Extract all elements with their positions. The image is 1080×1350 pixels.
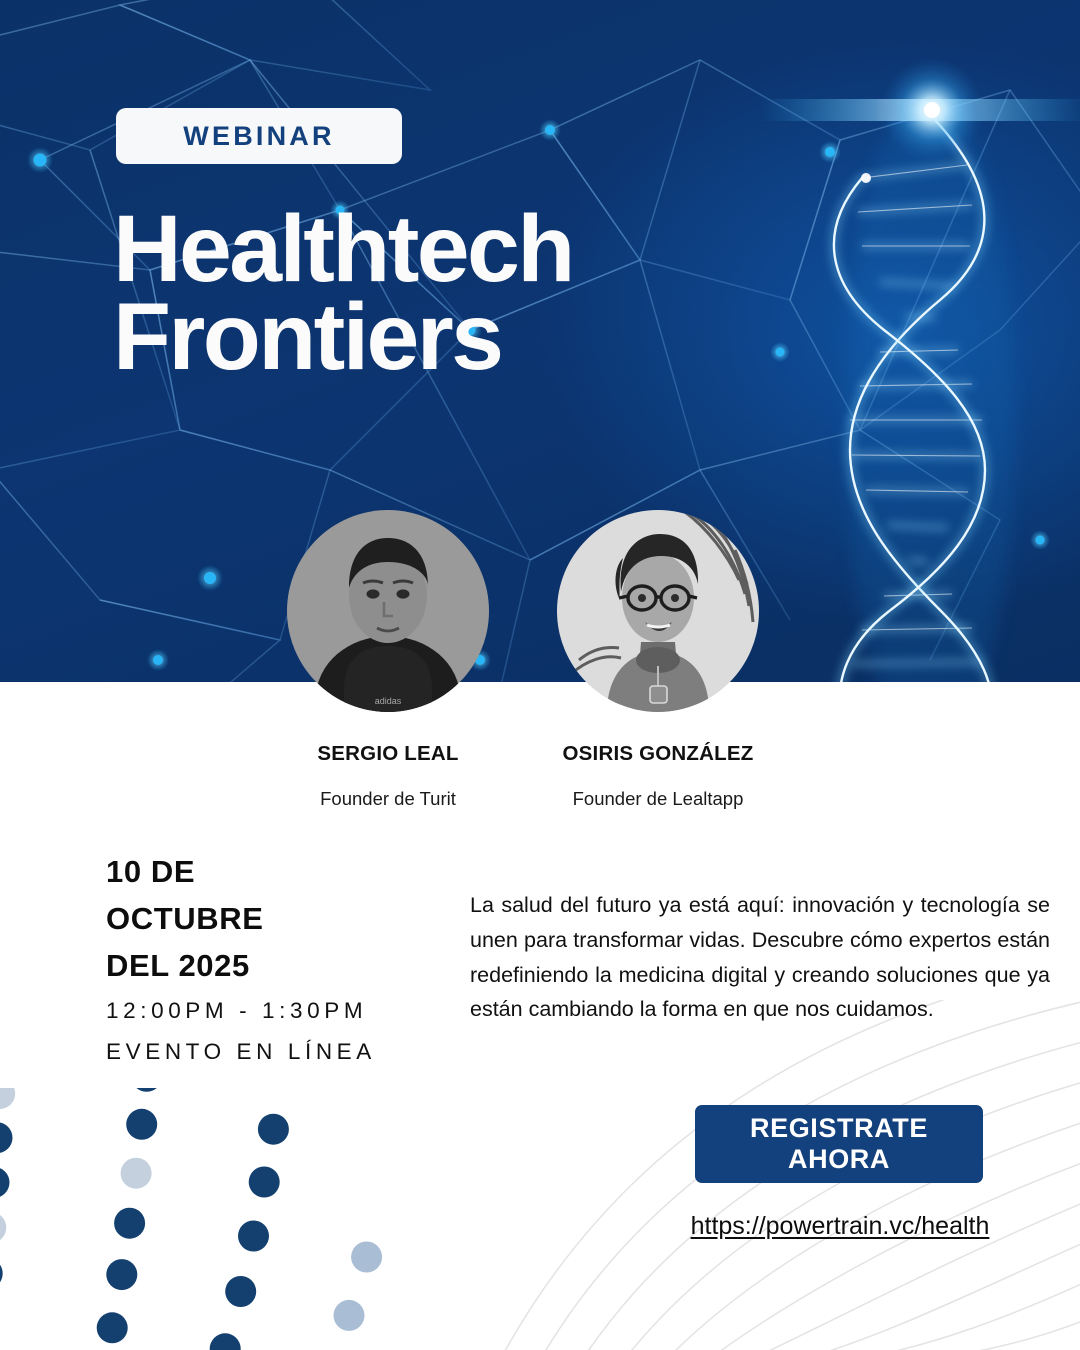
event-mode: EVENTO EN LÍNEA bbox=[106, 1034, 436, 1070]
event-details: 10 DE OCTUBRE DEL 2025 12:00PM - 1:30PM … bbox=[106, 848, 436, 1070]
event-time: 12:00PM - 1:30PM bbox=[106, 993, 436, 1029]
registration-url[interactable]: https://powertrain.vc/health bbox=[655, 1212, 1025, 1241]
register-button[interactable]: REGISTRATE AHORA bbox=[695, 1105, 983, 1183]
speaker-photo-icon bbox=[557, 510, 759, 712]
event-date-line-2: OCTUBRE bbox=[106, 895, 436, 942]
event-date-line-1: 10 DE bbox=[106, 848, 436, 895]
webinar-poster: WEBINAR Healthtech Frontiers adidas bbox=[0, 0, 1080, 1350]
avatar bbox=[557, 510, 759, 712]
webinar-badge: WEBINAR bbox=[116, 108, 402, 164]
speaker-name: OSIRIS GONZÁLEZ bbox=[508, 742, 808, 766]
hero-section: WEBINAR Healthtech Frontiers bbox=[0, 0, 1080, 682]
halftone-dot-fan-icon bbox=[0, 1088, 570, 1350]
title-line-2: Frontiers bbox=[113, 293, 813, 381]
svg-text:adidas: adidas bbox=[375, 696, 402, 706]
speaker-role: Founder de Lealtapp bbox=[498, 788, 818, 810]
event-date-line-3: DEL 2025 bbox=[106, 942, 436, 989]
avatar: adidas bbox=[287, 510, 489, 712]
register-button-label-line-2: AHORA bbox=[788, 1144, 890, 1175]
speaker-name: SERGIO LEAL bbox=[238, 742, 538, 766]
description-text: La salud del futuro ya está aquí: innova… bbox=[470, 888, 1050, 1027]
webinar-badge-label: WEBINAR bbox=[183, 121, 334, 152]
speaker-photo-icon: adidas bbox=[287, 510, 489, 712]
register-button-label-line-1: REGISTRATE bbox=[750, 1113, 928, 1144]
page-title: Healthtech Frontiers bbox=[113, 205, 813, 382]
